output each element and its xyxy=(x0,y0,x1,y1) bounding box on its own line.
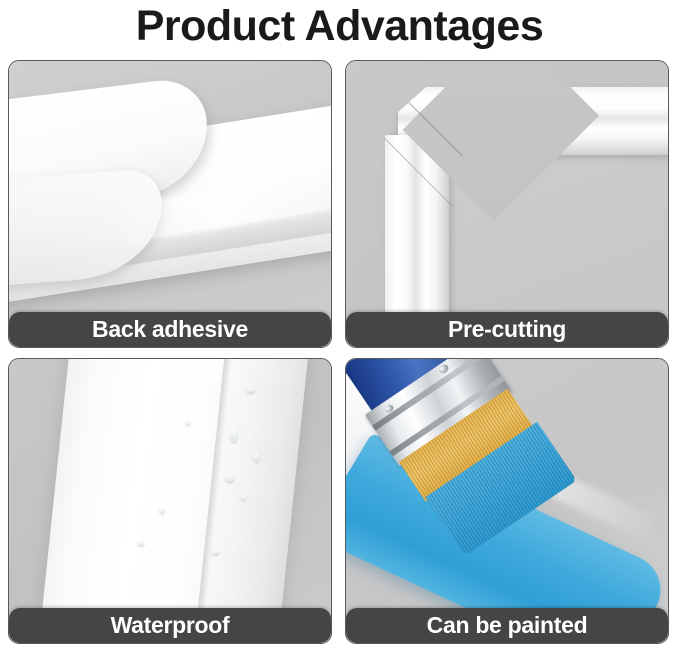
water-droplet xyxy=(254,453,259,462)
advantage-caption: Waterproof xyxy=(9,608,331,643)
pre-cutting-photo xyxy=(346,61,668,347)
advantage-caption: Can be painted xyxy=(346,608,668,643)
advantage-caption: Pre-cutting xyxy=(346,312,668,347)
waterproof-photo xyxy=(9,359,331,643)
back-adhesive-photo xyxy=(9,61,331,347)
advantages-grid: Back adhesive Pre-cutting xyxy=(8,60,671,644)
advantage-card-can-be-painted[interactable]: Can be painted xyxy=(345,358,669,644)
water-droplet xyxy=(138,541,144,546)
molding-surface xyxy=(35,359,311,643)
advantage-card-pre-cutting[interactable]: Pre-cutting xyxy=(345,60,669,348)
advantage-caption: Back adhesive xyxy=(9,312,331,347)
advantage-card-waterproof[interactable]: Waterproof xyxy=(8,358,332,644)
page-title: Product Advantages xyxy=(0,0,679,56)
advantage-card-back-adhesive[interactable]: Back adhesive xyxy=(8,60,332,348)
can-be-painted-photo xyxy=(346,359,668,643)
